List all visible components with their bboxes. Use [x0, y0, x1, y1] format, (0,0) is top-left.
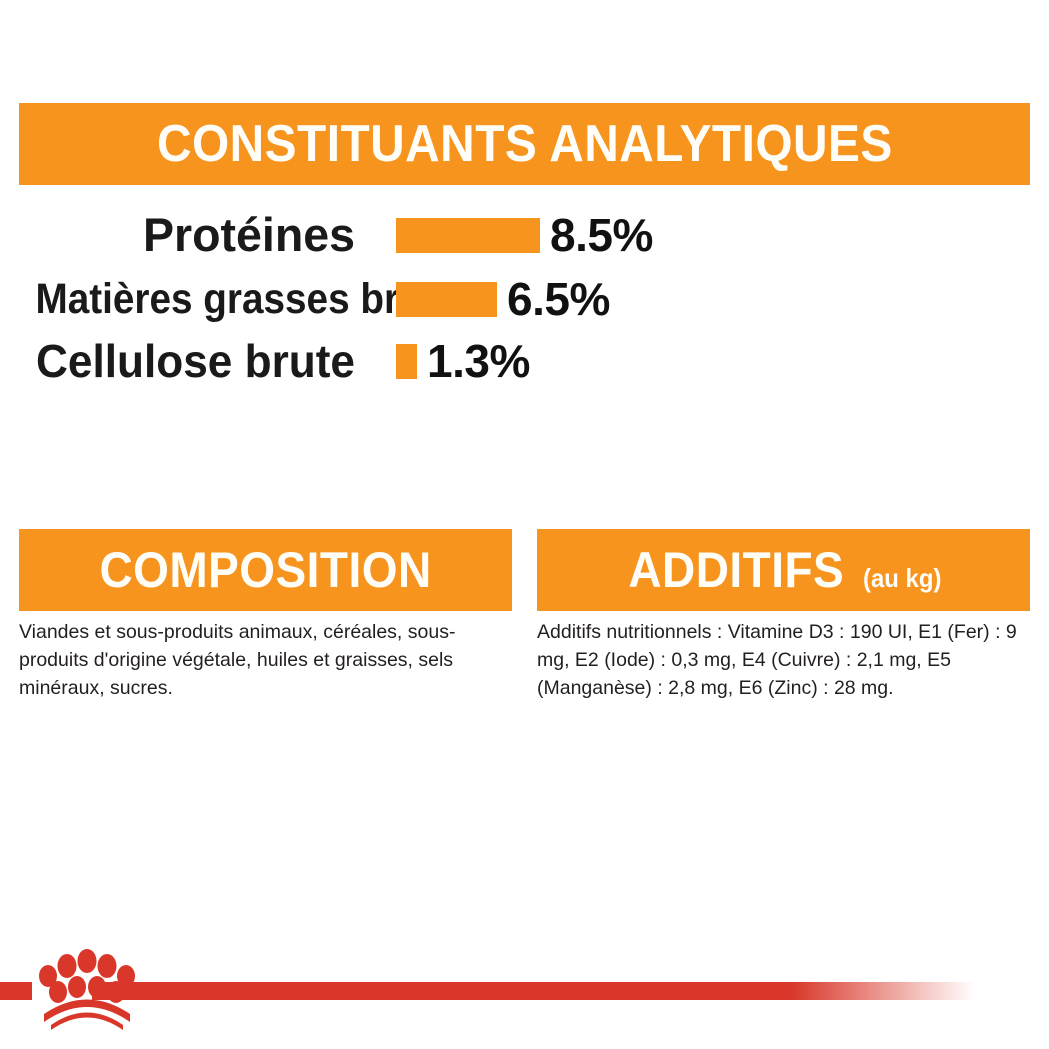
nutrient-label-proteines: Protéines: [4, 211, 355, 259]
analytical-constituents-title: CONSTITUANTS ANALYTIQUES: [157, 118, 893, 170]
nutrient-bar-area-cellulose-brute: 1.3%: [396, 332, 1049, 390]
analytical-constituents-banner: CONSTITUANTS ANALYTIQUES: [19, 103, 1030, 185]
footer-red-bar-right: [92, 982, 975, 1000]
additives-title-group: ADDITIFS (au kg): [619, 545, 949, 595]
composition-body-text: Viandes et sous-produits animaux, céréal…: [19, 618, 512, 702]
footer-red-bar-left: [0, 982, 32, 1000]
nutrient-bar-area-matieres-grasses-brutes: 6.5%: [396, 270, 1049, 328]
additives-banner: ADDITIFS (au kg): [537, 529, 1030, 611]
nutrient-bar-proteines: [396, 218, 540, 253]
composition-title: COMPOSITION: [99, 545, 431, 595]
footer-brand-strip: [0, 930, 1049, 1049]
nutrient-value-matieres-grasses-brutes: 6.5%: [507, 276, 610, 322]
nutrient-label-cellulose-brute: Cellulose brute: [14, 337, 355, 385]
composition-banner: COMPOSITION: [19, 529, 512, 611]
nutrient-value-proteines: 8.5%: [550, 212, 653, 258]
nutrient-bar-matieres-grasses-brutes: [396, 282, 497, 317]
additives-subtitle: (au kg): [863, 565, 941, 591]
nutrient-row-cellulose-brute: Cellulose brute 1.3%: [0, 332, 1049, 390]
additives-body-text: Additifs nutritionnels : Vitamine D3 : 1…: [537, 618, 1030, 702]
nutrient-value-cellulose-brute: 1.3%: [427, 338, 530, 384]
nutrient-bar-area-proteines: 8.5%: [396, 206, 1049, 264]
royal-canin-crown-icon: [32, 942, 142, 1032]
nutrient-bar-cellulose-brute: [396, 344, 417, 379]
product-nutrition-panel: CONSTITUANTS ANALYTIQUES Protéines 8.5% …: [0, 0, 1049, 1049]
additives-title: ADDITIFS: [628, 545, 844, 595]
analytical-constituents-chart: Protéines 8.5% Matières grasses brutes 6…: [0, 206, 1049, 406]
nutrient-row-proteines: Protéines 8.5%: [0, 206, 1049, 264]
nutrient-row-matieres-grasses-brutes: Matières grasses brutes 6.5%: [0, 270, 1049, 328]
nutrient-label-matieres-grasses-brutes: Matières grasses brutes: [36, 275, 356, 323]
